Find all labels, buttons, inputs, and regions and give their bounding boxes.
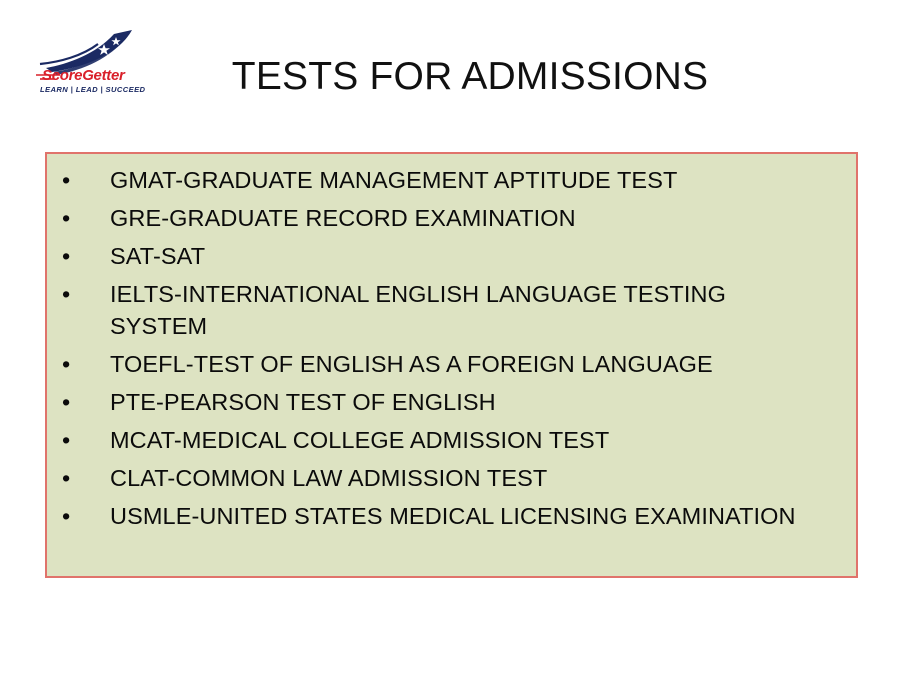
bullet-icon: • bbox=[62, 424, 82, 456]
bullet-icon: • bbox=[62, 278, 82, 310]
list-item-label: GRE-GRADUATE RECORD EXAMINATION bbox=[110, 202, 810, 234]
list-item-label: TOEFL-TEST OF ENGLISH AS A FOREIGN LANGU… bbox=[110, 348, 810, 380]
scoregetter-logo: ScoreGetter LEARN | LEAD | SUCCEED bbox=[34, 28, 156, 96]
list-item: • IELTS-INTERNATIONAL ENGLISH LANGUAGE T… bbox=[47, 278, 856, 342]
bullet-icon: • bbox=[62, 386, 82, 418]
bullet-icon: • bbox=[62, 164, 82, 196]
list-item-label: GMAT-GRADUATE MANAGEMENT APTITUDE TEST bbox=[110, 164, 810, 196]
list-item: • SAT-SAT bbox=[47, 240, 856, 272]
bullet-icon: • bbox=[62, 348, 82, 380]
list-item: • USMLE-UNITED STATES MEDICAL LICENSING … bbox=[47, 500, 856, 532]
list-item: • CLAT-COMMON LAW ADMISSION TEST bbox=[47, 462, 856, 494]
presentation-slide: ScoreGetter LEARN | LEAD | SUCCEED TESTS… bbox=[0, 0, 900, 675]
page-title: TESTS FOR ADMISSIONS bbox=[170, 55, 770, 100]
list-item: • TOEFL-TEST OF ENGLISH AS A FOREIGN LAN… bbox=[47, 348, 856, 380]
tests-list: • GMAT-GRADUATE MANAGEMENT APTITUDE TEST… bbox=[47, 164, 856, 538]
list-item: • PTE-PEARSON TEST OF ENGLISH bbox=[47, 386, 856, 418]
bullet-icon: • bbox=[62, 462, 82, 494]
list-item-label: USMLE-UNITED STATES MEDICAL LICENSING EX… bbox=[110, 500, 810, 532]
list-item: • GMAT-GRADUATE MANAGEMENT APTITUDE TEST bbox=[47, 164, 856, 196]
list-item: • MCAT-MEDICAL COLLEGE ADMISSION TEST bbox=[47, 424, 856, 456]
content-box: • GMAT-GRADUATE MANAGEMENT APTITUDE TEST… bbox=[45, 152, 858, 578]
bullet-icon: • bbox=[62, 240, 82, 272]
bullet-icon: • bbox=[62, 202, 82, 234]
list-item-label: CLAT-COMMON LAW ADMISSION TEST bbox=[110, 462, 810, 494]
list-item: • GRE-GRADUATE RECORD EXAMINATION bbox=[47, 202, 856, 234]
list-item-label: MCAT-MEDICAL COLLEGE ADMISSION TEST bbox=[110, 424, 810, 456]
list-item-label: IELTS-INTERNATIONAL ENGLISH LANGUAGE TES… bbox=[110, 278, 810, 342]
list-item-label: SAT-SAT bbox=[110, 240, 810, 272]
list-item-label: PTE-PEARSON TEST OF ENGLISH bbox=[110, 386, 810, 418]
logo-tagline: LEARN | LEAD | SUCCEED bbox=[40, 85, 146, 94]
bullet-icon: • bbox=[62, 500, 82, 532]
logo-wordmark: ScoreGetter bbox=[42, 67, 126, 84]
